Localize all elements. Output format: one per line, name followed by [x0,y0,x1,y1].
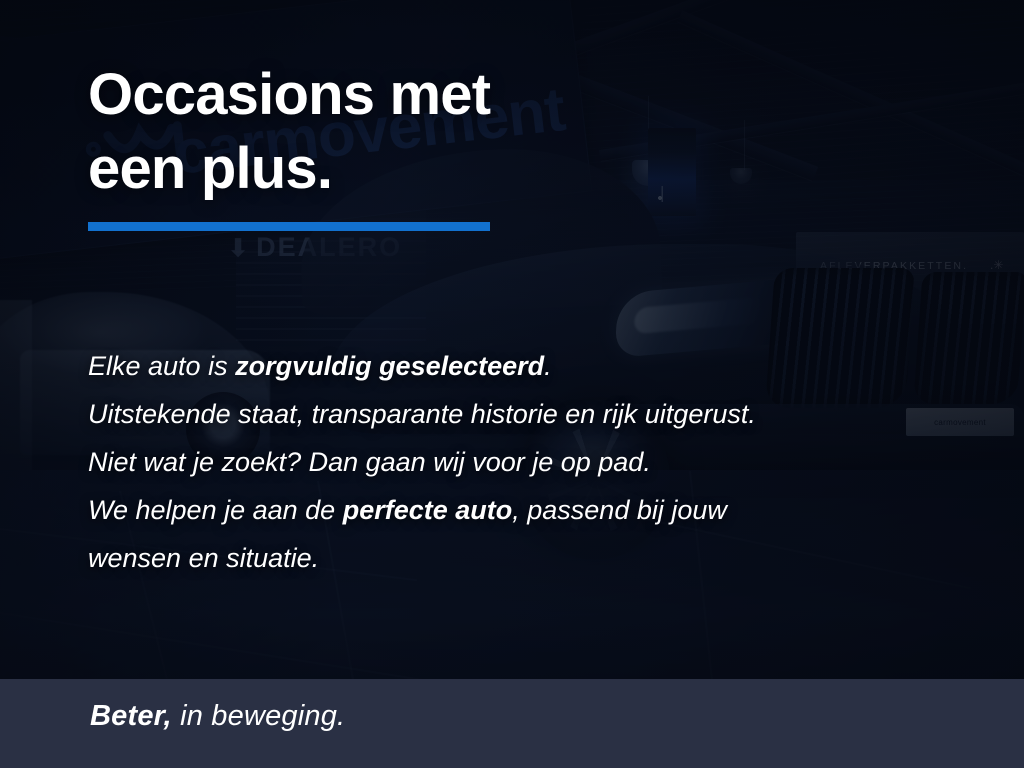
promo-slide: carmovement ⬇DEALERO AFLEVERPAKKETTEN. .… [0,0,1024,768]
body-line: Uitstekende staat, transparante historie… [88,390,948,438]
page-title: Occasions met een plus. [88,58,490,206]
body-line-post: , passend bij jouw [512,495,727,525]
body-line-post: . [544,351,552,381]
body-line: Niet wat je zoekt? Dan gaan wij voor je … [88,438,948,486]
body-line-pre: We helpen je aan de [88,495,343,525]
slide-content: Occasions met een plus. Elke auto is zor… [0,0,1024,768]
body-line: Elke auto is zorgvuldig geselecteerd. [88,342,948,390]
body-line-bold: zorgvuldig geselecteerd [235,351,544,381]
body-line-pre: Elke auto is [88,351,235,381]
tagline-rest: in beweging. [172,700,346,732]
accent-rule [88,222,490,231]
body-line-bold: perfecte auto [343,495,513,525]
tagline-bold: Beter, [90,700,172,732]
body-line-pre: wensen en situatie. [88,543,319,573]
body-line: wensen en situatie. [88,534,948,582]
body-line: We helpen je aan de perfecte auto, passe… [88,486,948,534]
tagline: Beter, in beweging. [90,700,345,733]
body-copy: Elke auto is zorgvuldig geselecteerd. Ui… [88,342,948,582]
body-line-pre: Uitstekende staat, transparante historie… [88,399,756,429]
body-line-pre: Niet wat je zoekt? Dan gaan wij voor je … [88,447,651,477]
